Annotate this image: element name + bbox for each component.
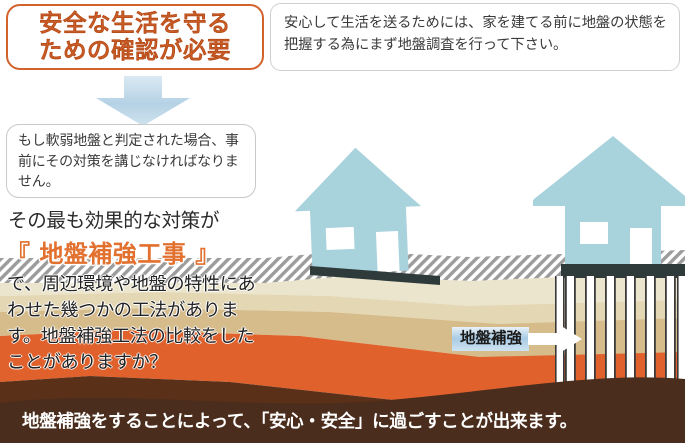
note-text: もし軟弱地盤と判定された場合、事前にその対策を講じなければなりません。: [18, 131, 245, 193]
ground-reinforcement-callout: 地盤補強: [452, 326, 582, 352]
right-arrow-icon: [528, 324, 582, 354]
headline-line-1: 安全な生活を守る: [39, 10, 231, 37]
level-foundation-slab: [561, 264, 685, 278]
body-paragraph: で、周辺環境や地盤の特性にあわせた幾つかの工法があります。地盤補強工法の比較をし…: [7, 272, 269, 375]
lead-sentence: その最も効果的な対策が: [8, 204, 219, 233]
intro-text-box: 安心して生活を送るためには、家を建てる前に地盤の状態を把握する為にまず地盤調査を…: [270, 3, 680, 71]
keyword-emphasis: 『 地盤補強工事 』: [6, 234, 220, 269]
banner-text: 地盤補強をすることによって、「安心・安全」に過ごすことが出来ます。: [22, 408, 577, 433]
headline-callout: 安全な生活を守る ための確認が必要: [6, 4, 264, 70]
bottom-banner: 地盤補強をすることによって、「安心・安全」に過ごすことが出来ます。: [0, 395, 685, 443]
soft-ground-note-box: もし軟弱地盤と判定された場合、事前にその対策を講じなければなりません。: [6, 124, 256, 198]
intro-text: 安心して生活を送るためには、家を建てる前に地盤の状態を把握する為にまず地盤調査を…: [284, 13, 667, 56]
infographic-page: 安全な生活を守る ための確認が必要 安心して生活を送るためには、家を建てる前に地…: [0, 0, 685, 443]
down-arrow-icon: [84, 76, 202, 126]
ground-reinforcement-label: 地盤補強: [452, 327, 529, 351]
headline-line-2: ための確認が必要: [39, 37, 231, 64]
